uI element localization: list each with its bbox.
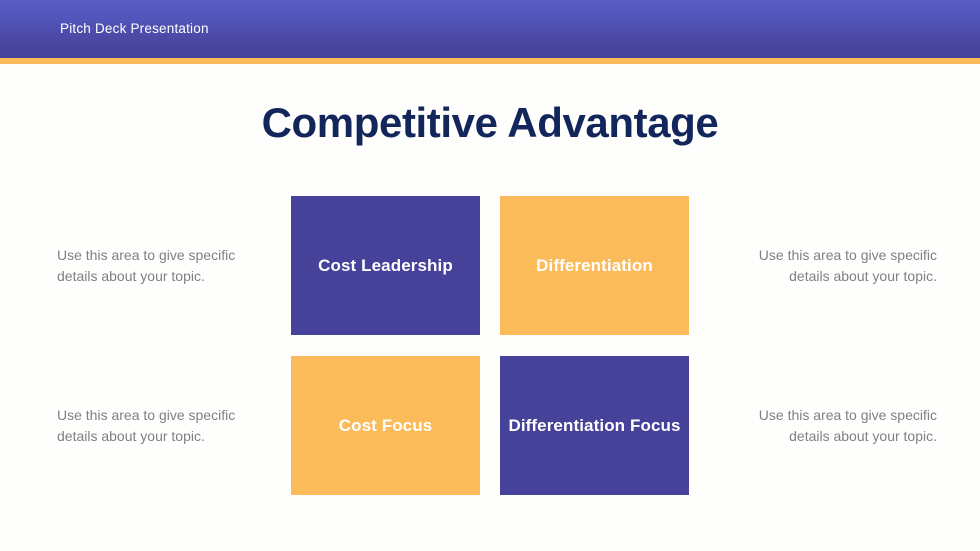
- quadrant-label-cost-focus: Cost Focus: [339, 415, 433, 436]
- quadrant-differentiation-focus[interactable]: Differentiation Focus: [500, 356, 689, 495]
- slide-canvas: Pitch Deck Presentation Competitive Adva…: [0, 0, 980, 551]
- competitive-advantage-matrix: Cost Leadership Differentiation Cost Foc…: [291, 196, 689, 495]
- note-bottom-right[interactable]: Use this area to give specific details a…: [727, 405, 937, 447]
- quadrant-label-differentiation: Differentiation: [536, 255, 653, 276]
- header-bar: Pitch Deck Presentation: [0, 0, 980, 58]
- note-bottom-left[interactable]: Use this area to give specific details a…: [57, 405, 267, 447]
- quadrant-cost-leadership[interactable]: Cost Leadership: [291, 196, 480, 335]
- page-title: Competitive Advantage: [0, 98, 980, 148]
- quadrant-cost-focus[interactable]: Cost Focus: [291, 356, 480, 495]
- presentation-title: Pitch Deck Presentation: [60, 22, 209, 36]
- quadrant-label-cost-leadership: Cost Leadership: [318, 255, 453, 276]
- note-top-left[interactable]: Use this area to give specific details a…: [57, 245, 267, 287]
- quadrant-differentiation[interactable]: Differentiation: [500, 196, 689, 335]
- header-accent-bar: [0, 58, 980, 64]
- note-top-right[interactable]: Use this area to give specific details a…: [727, 245, 937, 287]
- quadrant-label-differentiation-focus: Differentiation Focus: [508, 415, 680, 436]
